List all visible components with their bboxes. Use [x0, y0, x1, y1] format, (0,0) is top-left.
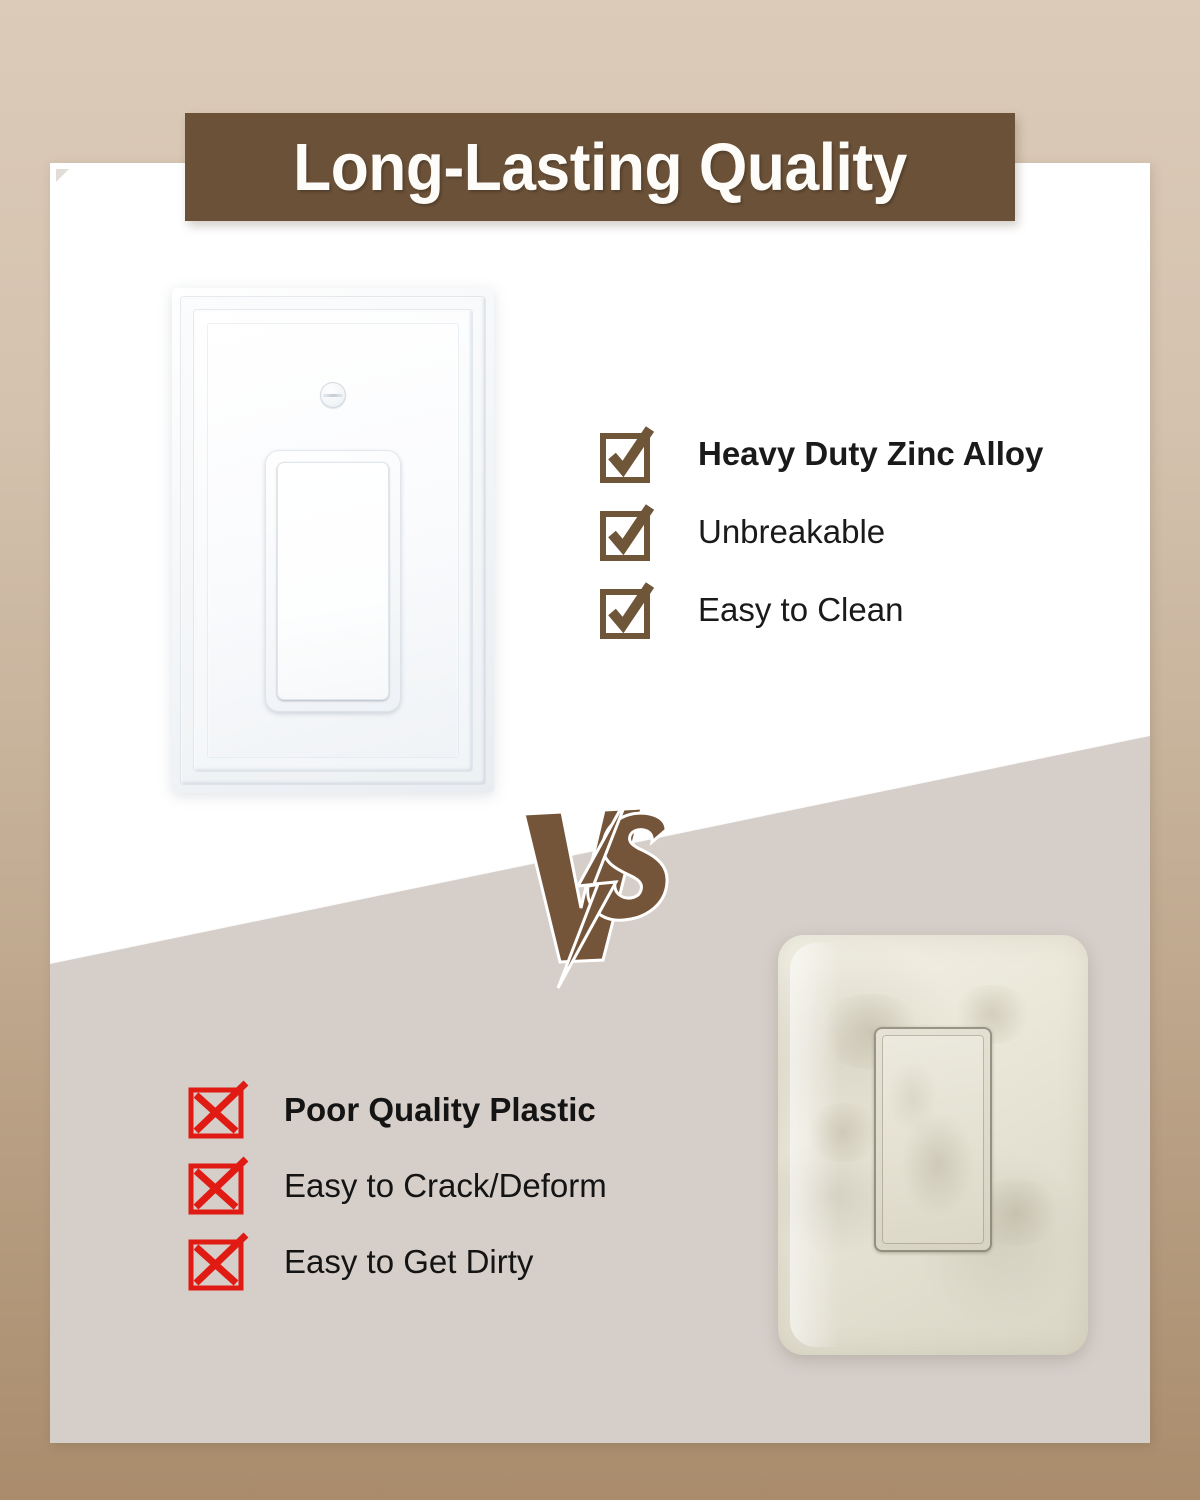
- benefits-list: Heavy Duty Zinc Alloy Unbreakable Easy t…: [600, 415, 1043, 649]
- list-item: Poor Quality Plastic: [188, 1072, 607, 1148]
- list-item: Easy to Clean: [600, 571, 1043, 649]
- list-item: Easy to Crack/Deform: [188, 1148, 607, 1224]
- list-item: Easy to Get Dirty: [188, 1224, 607, 1300]
- check-box-icon: [600, 504, 652, 560]
- list-item-label: Unbreakable: [698, 513, 885, 551]
- dirty-rocker-bezel: [874, 1027, 992, 1252]
- grime-stain: [803, 1103, 884, 1162]
- vs-badge: [518, 790, 693, 990]
- good-product-image: [172, 288, 494, 793]
- rocker-switch-paddle[interactable]: [277, 462, 389, 700]
- x-box-icon: [188, 1081, 248, 1139]
- x-box-icon: [188, 1157, 248, 1215]
- list-item-label: Poor Quality Plastic: [284, 1091, 596, 1129]
- list-item-label: Easy to Get Dirty: [284, 1243, 533, 1281]
- check-box-icon: [600, 426, 652, 482]
- list-item-label: Heavy Duty Zinc Alloy: [698, 435, 1043, 473]
- screw-icon-top: [320, 382, 346, 408]
- corner-fold-mark: [56, 169, 69, 182]
- dirty-rocker-paddle[interactable]: [882, 1035, 984, 1244]
- rocker-switch-bezel: [265, 450, 401, 712]
- list-item: Unbreakable: [600, 493, 1043, 571]
- check-box-icon: [600, 582, 652, 638]
- drawbacks-list: Poor Quality Plastic Easy to Crack/Defor…: [188, 1072, 607, 1300]
- list-item: Heavy Duty Zinc Alloy: [600, 415, 1043, 493]
- wall-plate-face: [208, 324, 458, 757]
- list-item-label: Easy to Clean: [698, 591, 903, 629]
- list-item-label: Easy to Crack/Deform: [284, 1167, 607, 1205]
- page-title: Long-Lasting Quality: [293, 129, 907, 206]
- dirty-wall-plate: [778, 935, 1088, 1355]
- title-banner: Long-Lasting Quality: [185, 113, 1015, 221]
- bad-product-image: [778, 935, 1088, 1355]
- x-box-icon: [188, 1233, 248, 1291]
